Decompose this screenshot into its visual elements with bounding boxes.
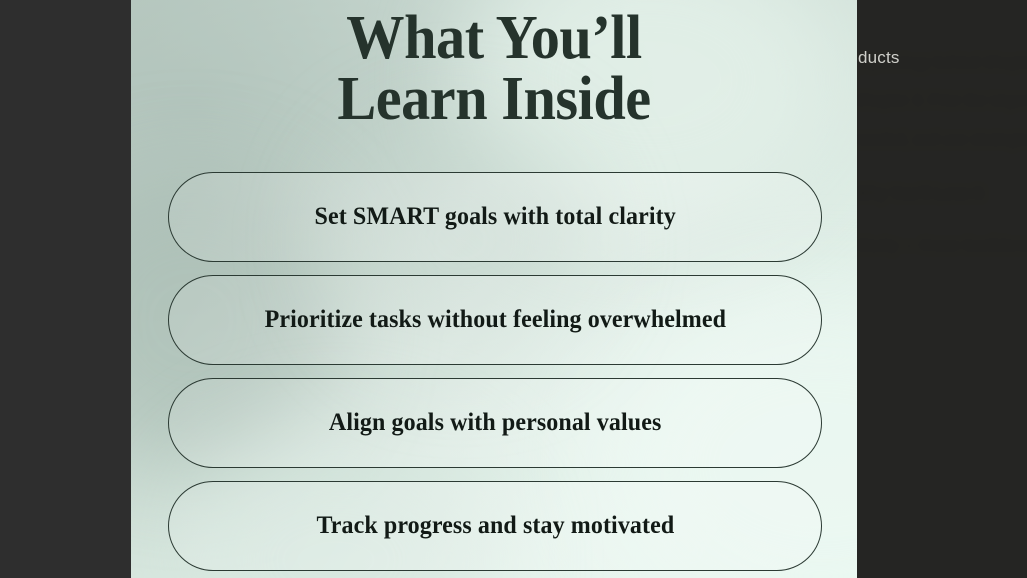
feature-pill-1-label: Set SMART goals with total clarity [314,203,675,231]
left-frame [0,0,131,578]
background-word-fragment: ducts [858,48,900,68]
screen: psychology behind Chapter 2: Set goals t… [0,0,1027,578]
page-title: What You’ll Learn Inside [153,8,835,130]
feature-pill-list: Set SMART goals with total clarity Prior… [168,172,822,578]
feature-pill-3[interactable]: Align goals with personal values [168,378,822,468]
feature-pill-2[interactable]: Prioritize tasks without feeling overwhe… [168,275,822,365]
bg-line-6: needed, and use [855,131,967,148]
slide-panel-inner: What You’ll Learn Inside Set SMART goals… [131,0,857,578]
bg-line-1: Chapter 2: Set [983,54,1027,71]
feature-pill-2-label: Prioritize tasks without feeling overwhe… [264,306,725,334]
slide-panel: What You’ll Learn Inside Set SMART goals… [131,0,857,578]
feature-pill-4[interactable]: Track progress and stay motivated [168,481,822,571]
page-title-line-1: What You’ll [346,4,641,72]
bg-line-9: Clarity — Know [855,237,958,254]
bg-line-10: Confidence — B [963,237,1027,254]
page-title-line-2: Learn Inside [153,69,835,130]
bg-line-4: the Urgent vs. Im [965,92,1027,109]
feature-pill-1[interactable]: Set SMART goals with total clarity [168,172,822,262]
bg-line-3: Chapter 3: Prior [855,92,961,109]
bg-line-7: strategies. [971,131,1027,148]
feature-pill-3-label: Align goals with personal values [329,409,661,437]
feature-pill-4-label: Track progress and stay motivated [316,512,674,540]
bg-line-8: Why You’ll Love It [855,175,1027,213]
